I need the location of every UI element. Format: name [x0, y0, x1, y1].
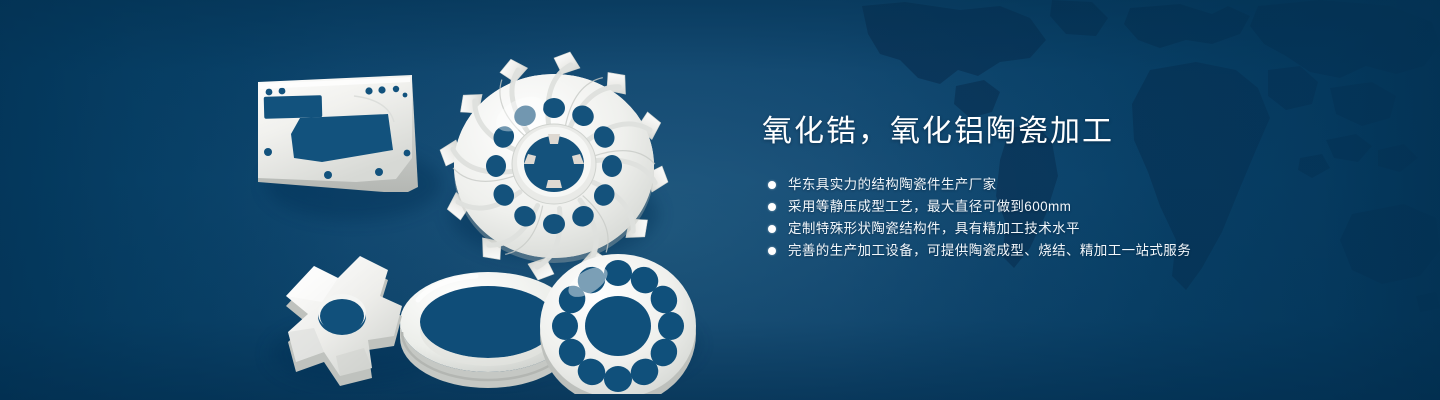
- list-item-label: 华东具实力的结构陶瓷件生产厂家: [788, 174, 997, 196]
- list-item-label: 采用等静压成型工艺，最大直径可做到600mm: [788, 196, 1071, 218]
- feature-list: 华东具实力的结构陶瓷件生产厂家 采用等静压成型工艺，最大直径可做到600mm 定…: [768, 174, 1382, 262]
- list-item: 华东具实力的结构陶瓷件生产厂家: [768, 174, 1382, 196]
- bullet-dot-icon: [768, 225, 776, 233]
- banner-copy: 氧化锆，氧化铝陶瓷加工 华东具实力的结构陶瓷件生产厂家 采用等静压成型工艺，最大…: [762, 112, 1382, 262]
- list-item: 完善的生产加工设备，可提供陶瓷成型、烧结、精加工一站式服务: [768, 240, 1382, 262]
- list-item: 采用等静压成型工艺，最大直径可做到600mm: [768, 196, 1382, 218]
- bullet-dot-icon: [768, 203, 776, 211]
- product-photo-group: [236, 34, 716, 394]
- list-item: 定制特殊形状陶瓷结构件，具有精加工技术水平: [768, 218, 1382, 240]
- list-item-label: 完善的生产加工设备，可提供陶瓷成型、烧结、精加工一站式服务: [788, 240, 1191, 262]
- list-item-label: 定制特殊形状陶瓷结构件，具有精加工技术水平: [788, 218, 1080, 240]
- ceramic-plate: [258, 75, 418, 192]
- ceramic-perforated-disc: [540, 254, 696, 394]
- promo-banner: 氧化锆，氧化铝陶瓷加工 华东具实力的结构陶瓷件生产厂家 采用等静压成型工艺，最大…: [0, 0, 1440, 400]
- page-title: 氧化锆，氧化铝陶瓷加工: [762, 112, 1382, 152]
- bullet-dot-icon: [768, 247, 776, 255]
- bullet-dot-icon: [768, 181, 776, 189]
- ceramic-impeller: [440, 52, 668, 280]
